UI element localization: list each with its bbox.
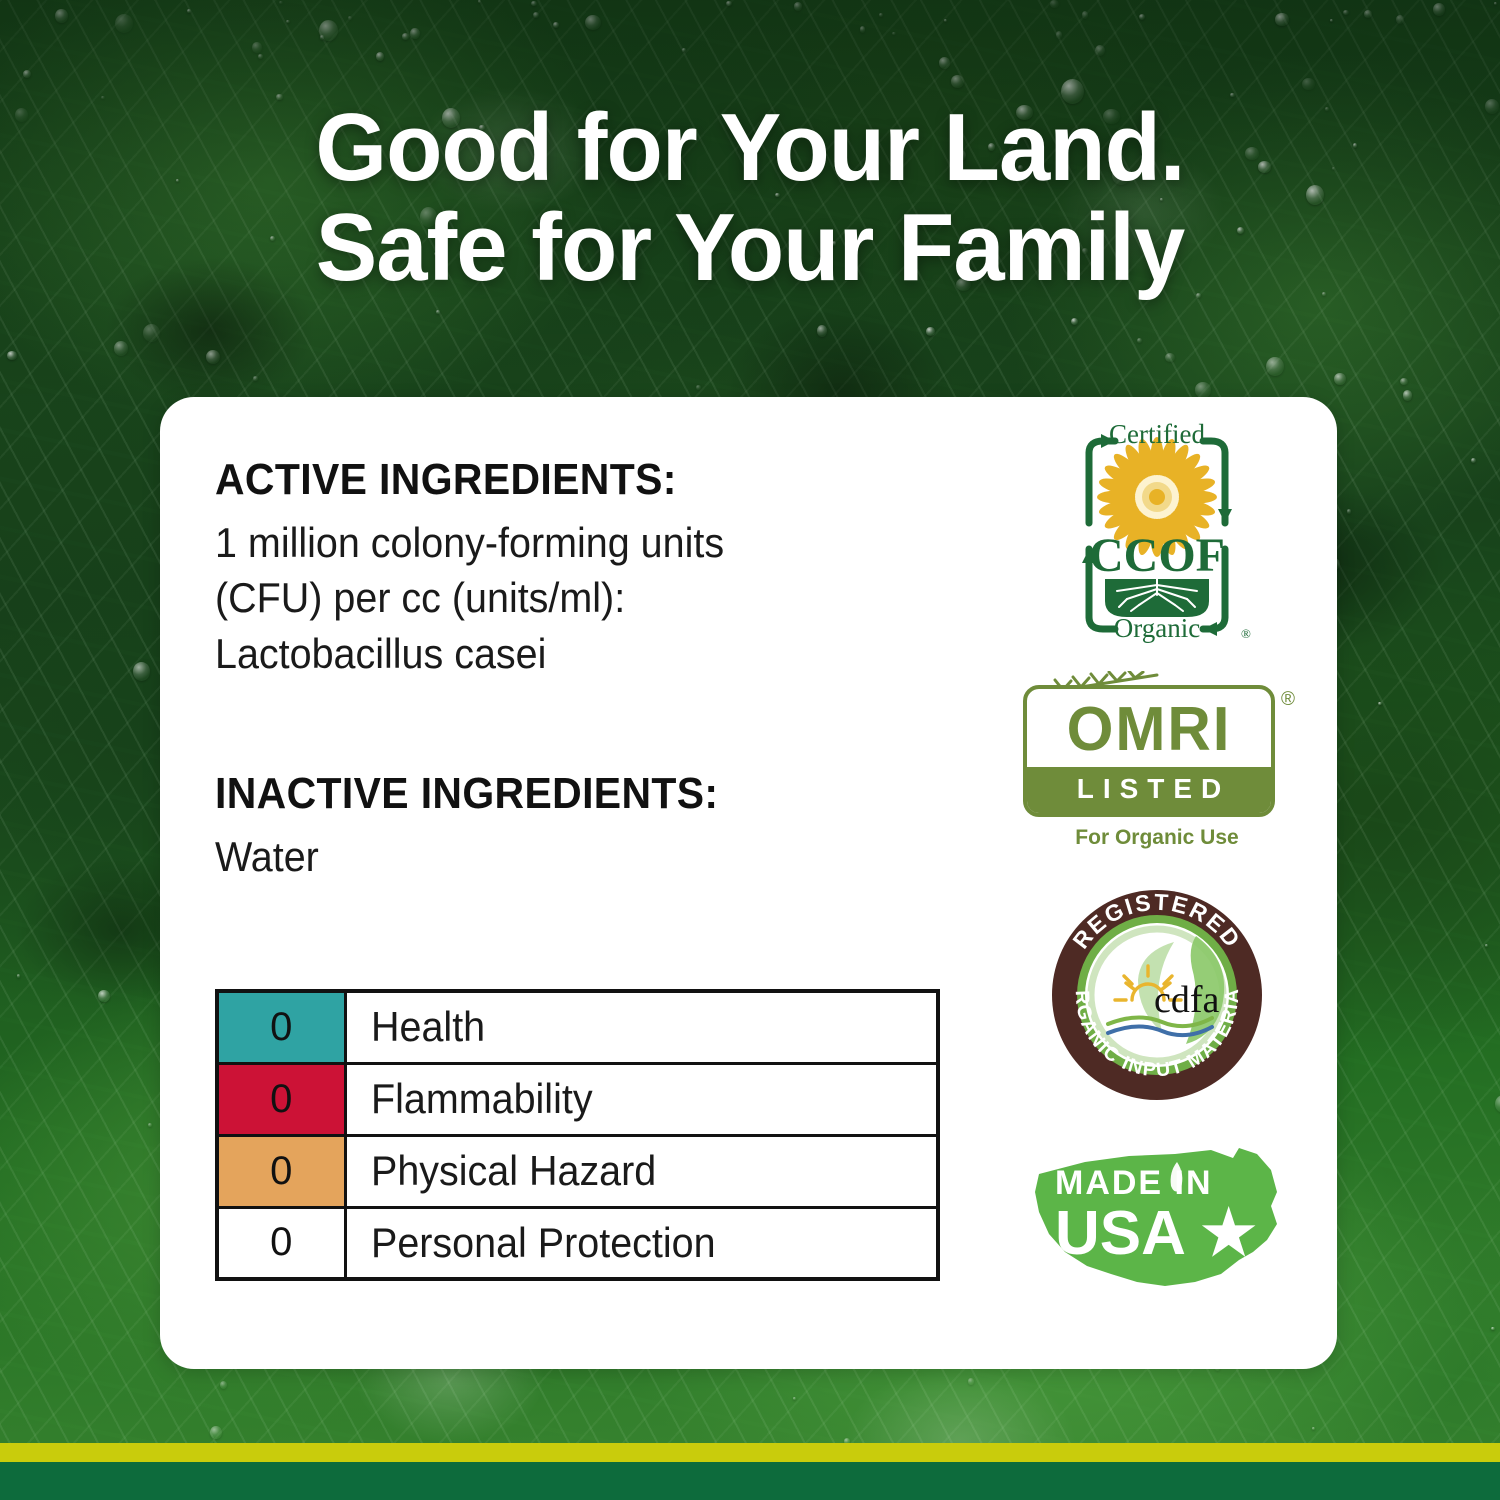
ccof-registered-mark: ®: [1241, 626, 1251, 641]
table-row: 0Health: [217, 991, 938, 1063]
hazard-rating-value: 0: [217, 1207, 345, 1279]
hazard-category-label: Flammability: [345, 1063, 938, 1135]
hazard-rating-value: 0: [217, 991, 345, 1063]
headline-line-2: Safe for Your Family: [30, 198, 1470, 298]
inactive-ingredients-heading: INACTIVE INGREDIENTS:: [215, 769, 940, 819]
hmis-hazard-table: 0Health0Flammability0Physical Hazard0Per…: [215, 989, 940, 1281]
ccof-bottom-label: Organic: [1114, 613, 1200, 643]
table-row: 0Flammability: [217, 1063, 938, 1135]
active-ingredients-text: 1 million colony-forming units (CFU) per…: [215, 515, 948, 681]
omri-listed-label: LISTED: [1027, 767, 1271, 813]
table-row: 0Physical Hazard: [217, 1135, 938, 1207]
inactive-ingredients-text: Water: [215, 829, 948, 884]
active-ingredients-block: ACTIVE INGREDIENTS: 1 million colony-for…: [215, 455, 995, 681]
active-ingredients-line-3: Lactobacillus casei: [215, 626, 948, 681]
ccof-top-label: Certified: [1109, 419, 1205, 449]
inactive-ingredients-block: INACTIVE INGREDIENTS: Water: [215, 769, 995, 884]
omri-sub-label: For Organic Use: [1075, 826, 1238, 850]
certification-badges: Certified CCOF Organic ®: [1007, 419, 1307, 1290]
inactive-ingredients-line-1: Water: [215, 829, 948, 884]
active-ingredients-line-2: (CFU) per cc (units/ml):: [215, 570, 948, 625]
cdfa-icon: cdfa REGISTERED ORGANIC INPUT MATERIAL: [1046, 884, 1268, 1106]
cdfa-name-label: cdfa: [1154, 979, 1220, 1021]
active-ingredients-heading: ACTIVE INGREDIENTS:: [215, 455, 940, 505]
info-card: ACTIVE INGREDIENTS: 1 million colony-for…: [160, 397, 1337, 1369]
table-row: 0Personal Protection: [217, 1207, 938, 1279]
ccof-name-label: CCOF: [1089, 529, 1225, 582]
made-in-usa-badge: MADE IN USA ★: [1025, 1140, 1289, 1290]
omri-listed-badge: OMRI LISTED ® For Organic Use: [1023, 685, 1291, 850]
active-ingredients-line-1: 1 million colony-forming units: [215, 515, 948, 570]
omri-registered-mark: ®: [1281, 689, 1295, 711]
bottom-yellow-stripe: [0, 1443, 1500, 1462]
hazard-rating-value: 0: [217, 1135, 345, 1207]
bottom-green-stripe: [0, 1462, 1500, 1500]
omri-box: OMRI LISTED: [1023, 685, 1275, 817]
omri-name-label: OMRI: [1031, 689, 1268, 767]
ingredients-content: ACTIVE INGREDIENTS: 1 million colony-for…: [215, 455, 995, 885]
hazard-category-label: Personal Protection: [345, 1207, 938, 1279]
hazard-category-label: Physical Hazard: [345, 1135, 938, 1207]
headline-line-1: Good for Your Land.: [30, 98, 1470, 198]
cdfa-registered-badge: cdfa REGISTERED ORGANIC INPUT MATERIAL: [1046, 884, 1268, 1106]
hazard-category-label: Health: [345, 991, 938, 1063]
usa-map-icon: [1025, 1140, 1289, 1290]
hazard-rating-value: 0: [217, 1063, 345, 1135]
headline: Good for Your Land. Safe for Your Family: [30, 98, 1470, 298]
ccof-organic-badge: Certified CCOF Organic ®: [1053, 419, 1261, 651]
ccof-icon: Certified CCOF Organic ®: [1053, 419, 1261, 651]
